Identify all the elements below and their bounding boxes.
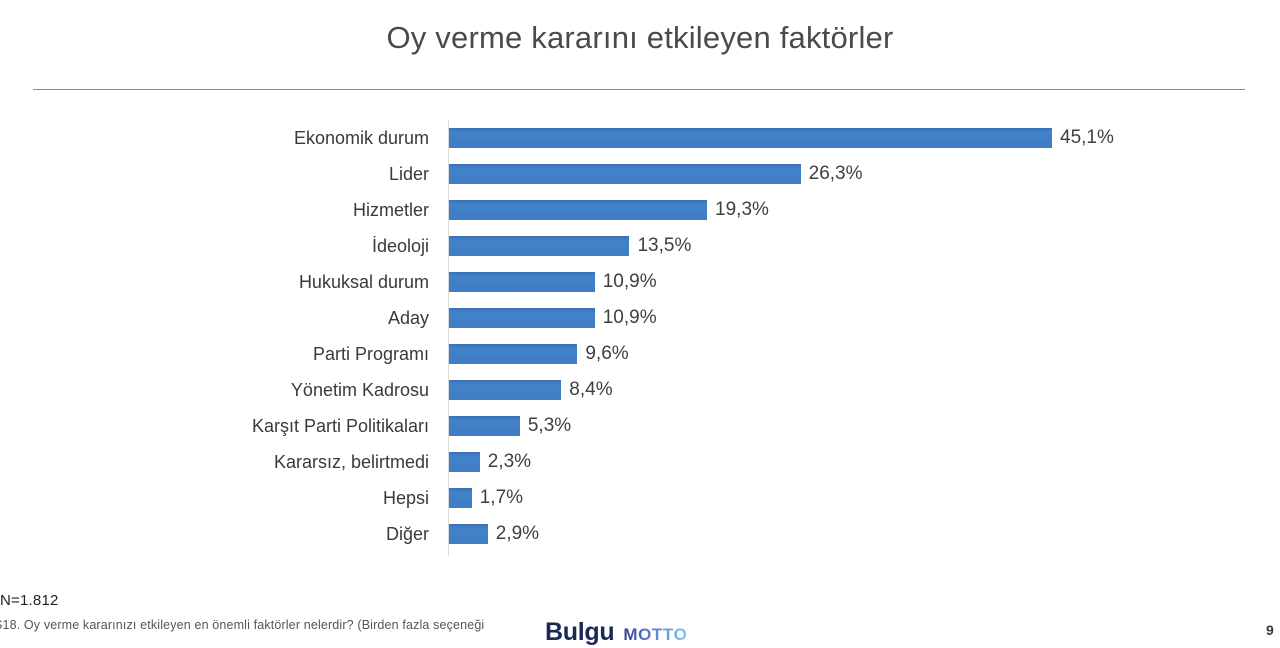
logo-motto-text: MOTTO — [623, 621, 687, 648]
bar-row: Kararsız, belirtmedi2,3% — [0, 444, 1280, 480]
bar-category-label: Lider — [389, 156, 429, 192]
bar-row: Parti Programı9,6% — [0, 336, 1280, 372]
brand-logo: Bulgu MOTTO — [545, 618, 687, 648]
bar — [449, 308, 595, 328]
bar — [449, 236, 629, 256]
bar-category-label: Hizmetler — [353, 192, 429, 228]
bar — [449, 344, 577, 364]
bar — [449, 200, 707, 220]
bar-category-label: Kararsız, belirtmedi — [274, 444, 429, 480]
bar-category-label: Ekonomik durum — [294, 120, 429, 156]
bar — [449, 488, 472, 508]
bar-category-label: Karşıt Parti Politikaları — [252, 408, 429, 444]
bar-value-label: 2,9% — [496, 516, 539, 552]
bar-category-label: Aday — [388, 300, 429, 336]
bar — [449, 164, 801, 184]
title-divider — [33, 89, 1245, 90]
survey-question-text: S18. Oy verme kararınızı etkileyen en ön… — [0, 618, 484, 632]
bar-value-label: 26,3% — [809, 156, 863, 192]
bar-chart: Ekonomik durum45,1%Lider26,3%Hizmetler19… — [0, 112, 1280, 552]
bar — [449, 452, 480, 472]
bar-row: Lider26,3% — [0, 156, 1280, 192]
bar-category-label: Yönetim Kadrosu — [291, 372, 429, 408]
bar-value-label: 2,3% — [488, 444, 531, 480]
bar-row: Diğer2,9% — [0, 516, 1280, 552]
page-title: Oy verme kararını etkileyen faktörler — [0, 16, 1280, 60]
bar-row: Yönetim Kadrosu8,4% — [0, 372, 1280, 408]
bar-category-label: Parti Programı — [313, 336, 429, 372]
bar — [449, 524, 488, 544]
bar-value-label: 45,1% — [1060, 120, 1114, 156]
bar-category-label: İdeoloji — [372, 228, 429, 264]
bar-value-label: 1,7% — [480, 480, 523, 516]
page-number: 9 — [1266, 622, 1274, 638]
bar-row: Hukuksal durum10,9% — [0, 264, 1280, 300]
bar-category-label: Hepsi — [383, 480, 429, 516]
sample-size-label: N=1.812 — [0, 592, 59, 609]
bar-row: Hepsi1,7% — [0, 480, 1280, 516]
bar-row: İdeoloji13,5% — [0, 228, 1280, 264]
bar — [449, 128, 1052, 148]
bar-row: Hizmetler19,3% — [0, 192, 1280, 228]
bar-value-label: 9,6% — [585, 336, 628, 372]
bar-row: Aday10,9% — [0, 300, 1280, 336]
bar — [449, 272, 595, 292]
bar-category-label: Hukuksal durum — [299, 264, 429, 300]
logo-bulgu-text: Bulgu — [545, 618, 614, 646]
bar-value-label: 19,3% — [715, 192, 769, 228]
bar-row: Karşıt Parti Politikaları5,3% — [0, 408, 1280, 444]
bar-value-label: 10,9% — [603, 264, 657, 300]
bar — [449, 416, 520, 436]
bar-value-label: 5,3% — [528, 408, 571, 444]
bar-row: Ekonomik durum45,1% — [0, 120, 1280, 156]
bar — [449, 380, 561, 400]
bar-category-label: Diğer — [386, 516, 429, 552]
bar-value-label: 13,5% — [637, 228, 691, 264]
bar-value-label: 8,4% — [569, 372, 612, 408]
bar-value-label: 10,9% — [603, 300, 657, 336]
